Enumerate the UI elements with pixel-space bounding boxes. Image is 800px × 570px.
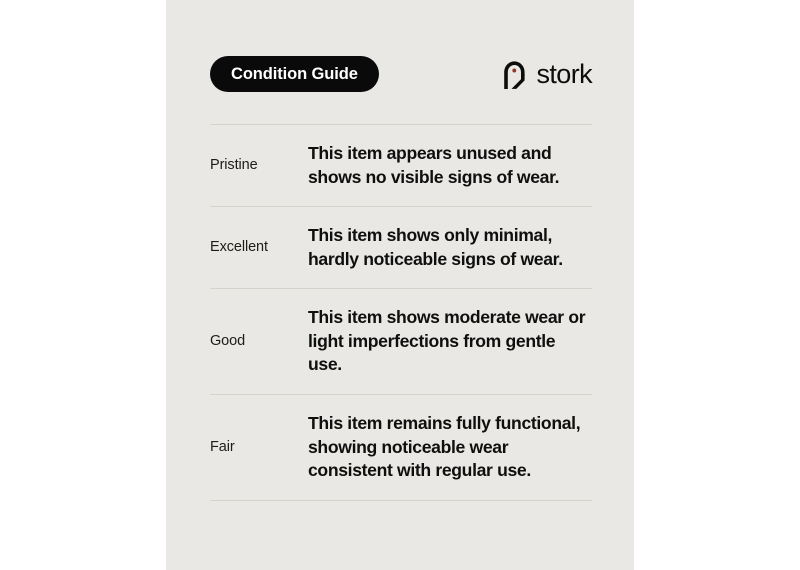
row-divider xyxy=(210,500,592,501)
condition-guide-card: Condition Guide stork Pristine This item… xyxy=(166,0,634,570)
condition-label: Excellent xyxy=(210,239,308,256)
table-row: Good This item shows moderate wear or li… xyxy=(210,289,592,394)
condition-label: Fair xyxy=(210,439,308,456)
condition-description: This item shows only minimal, hardly not… xyxy=(308,224,592,271)
table-row: Fair This item remains fully functional,… xyxy=(210,395,592,500)
page-root: Condition Guide stork Pristine This item… xyxy=(0,0,800,570)
brand-lockup: stork xyxy=(501,56,592,92)
table-row: Pristine This item appears unused and sh… xyxy=(210,125,592,206)
stork-logo-icon xyxy=(501,59,528,89)
card-header: Condition Guide stork xyxy=(210,56,592,92)
condition-description: This item appears unused and shows no vi… xyxy=(308,142,592,189)
condition-description: This item shows moderate wear or light i… xyxy=(308,306,592,377)
condition-table: Pristine This item appears unused and sh… xyxy=(210,124,592,501)
condition-description: This item remains fully functional, show… xyxy=(308,412,592,483)
condition-label: Pristine xyxy=(210,157,308,174)
condition-label: Good xyxy=(210,333,308,350)
table-row: Excellent This item shows only minimal, … xyxy=(210,207,592,288)
brand-wordmark: stork xyxy=(536,61,592,88)
condition-guide-pill: Condition Guide xyxy=(210,56,379,92)
